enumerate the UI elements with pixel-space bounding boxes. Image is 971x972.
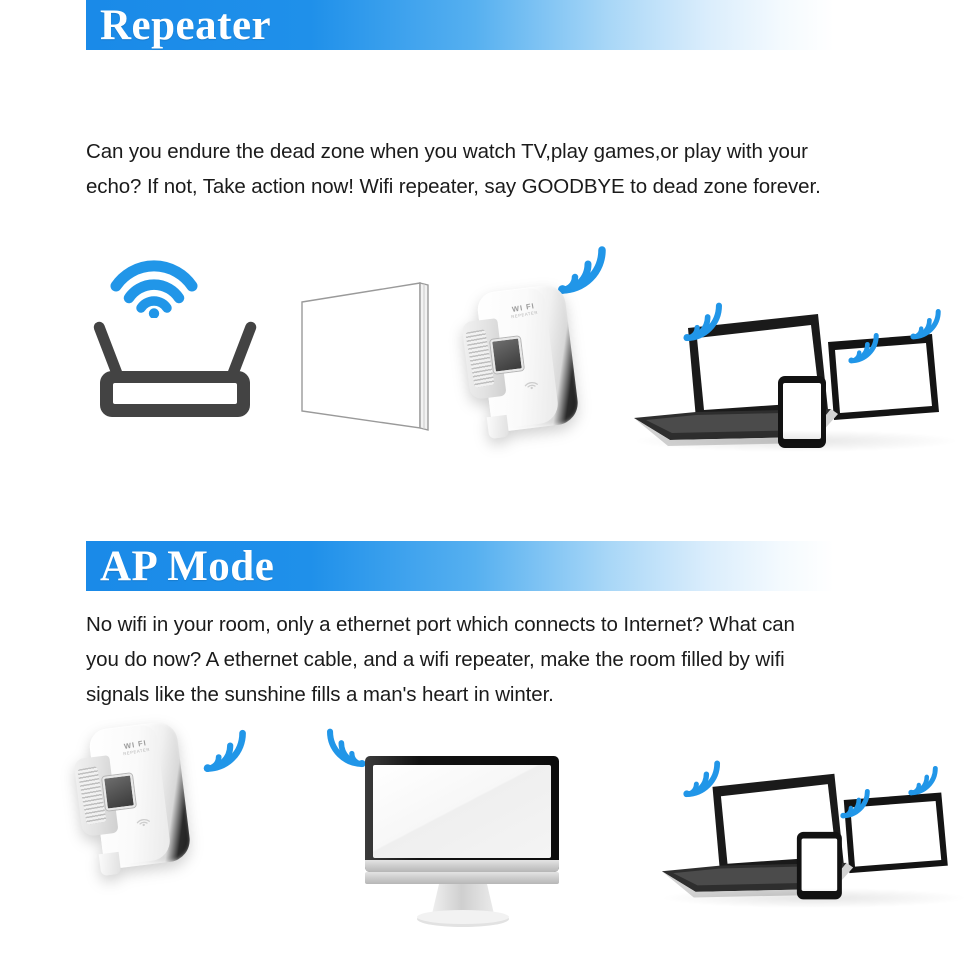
section-header-bar-repeater: Repeater	[86, 0, 834, 50]
section-repeater: Repeater Can you endure the dead zone wh…	[0, 0, 971, 500]
smartphone	[797, 832, 842, 900]
section-header-bar-ap-mode: AP Mode	[86, 541, 834, 591]
wifi-repeater-device: WI FI REPEATER	[466, 288, 596, 448]
smartphone	[778, 376, 826, 448]
ethernet-port	[490, 336, 524, 373]
section-body-repeater: Can you endure the dead zone when you wa…	[86, 134, 826, 204]
wps-button-icon	[134, 810, 152, 828]
page-title-ap-mode: AP Mode	[86, 545, 274, 588]
tablet	[828, 334, 939, 420]
repeater-vent-grille	[77, 766, 106, 825]
wifi-repeater-device: WI FI REPEATER	[78, 725, 208, 885]
repeater-plug-prongs	[487, 415, 510, 439]
wifi-signal-icon	[680, 758, 722, 798]
infographic-page: Repeater Can you endure the dead zone wh…	[0, 0, 971, 972]
wps-button-icon	[522, 373, 540, 391]
router-body	[100, 371, 250, 417]
wall-panel	[288, 278, 466, 446]
wifi-signal-icon	[108, 246, 200, 318]
repeater-vent-grille	[465, 329, 494, 388]
wifi-signal-icon	[908, 307, 942, 340]
repeater-plug-prongs	[99, 852, 122, 876]
section-ap-mode: AP Mode No wifi in your room, only a eth…	[0, 500, 971, 972]
ethernet-port	[102, 773, 136, 810]
section-body-ap-mode: No wifi in your room, only a ethernet po…	[86, 607, 826, 712]
wifi-signal-icon	[906, 764, 939, 796]
page-title-repeater: Repeater	[86, 4, 271, 47]
router-slot	[113, 383, 237, 404]
wifi-signal-icon	[200, 727, 248, 773]
wifi-router-icon	[100, 322, 250, 417]
desktop-monitor	[363, 756, 563, 928]
wifi-signal-icon	[846, 331, 880, 364]
wifi-signal-icon	[838, 787, 871, 819]
wifi-signal-icon	[680, 300, 724, 342]
